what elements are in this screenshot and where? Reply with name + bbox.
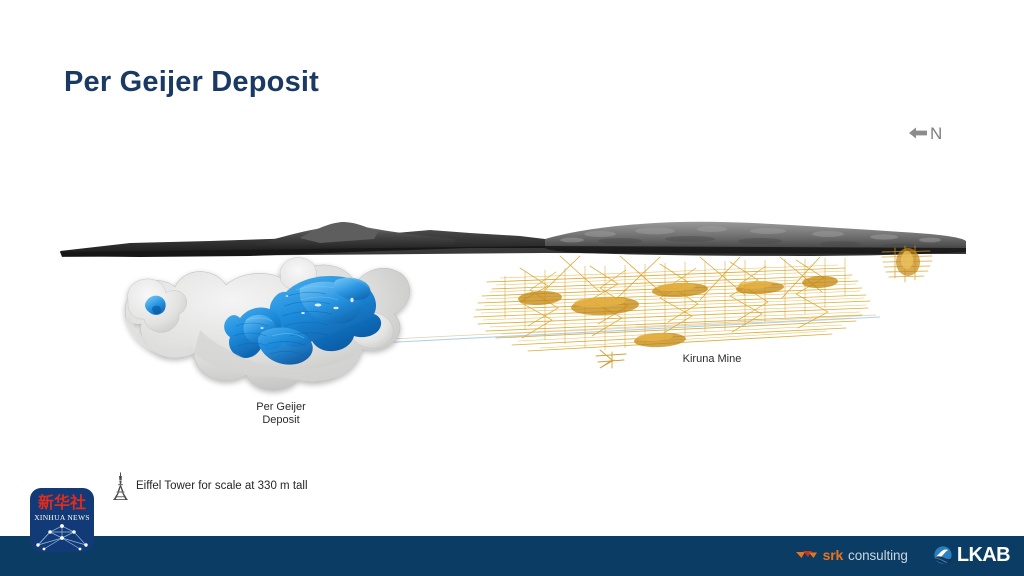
lkab-wave-icon — [932, 546, 954, 564]
srk-consulting-logo[interactable]: srk consulting — [796, 547, 908, 563]
eiffel-tower-icon — [112, 472, 129, 500]
kiruna-mine-workings — [474, 246, 932, 368]
deposit-label: Per Geijer Deposit — [233, 401, 329, 427]
srk-consulting-word: consulting — [848, 548, 908, 563]
footer-logos: srk consulting LKAB — [796, 540, 1010, 570]
topographic-surface — [60, 222, 966, 257]
page-title: Per Geijer Deposit — [64, 66, 319, 99]
mine-label: Kiruna Mine — [663, 353, 761, 366]
lkab-wordmark: LKAB — [957, 544, 1010, 567]
srk-chevron-icon — [796, 549, 818, 561]
xinhua-news-logo: 新华社 XINHUA NEWS — [30, 488, 94, 552]
network-graphic-icon — [30, 521, 94, 552]
scale-note-text: Eiffel Tower for scale at 330 m tall — [136, 480, 308, 492]
arrow-left-icon — [908, 124, 928, 142]
lkab-logo[interactable]: LKAB — [932, 544, 1010, 567]
connector-line — [340, 315, 880, 345]
xinhua-chinese-text: 新华社 — [30, 494, 94, 512]
north-label: N — [930, 125, 942, 142]
scale-note: Eiffel Tower for scale at 330 m tall — [112, 472, 308, 500]
srk-wordmark: srk — [823, 547, 843, 563]
presentation-slide: Per Geijer Deposit N Per Geijer Deposit … — [0, 0, 1024, 576]
north-indicator: N — [908, 124, 942, 142]
per-geijer-orebody — [125, 258, 410, 391]
